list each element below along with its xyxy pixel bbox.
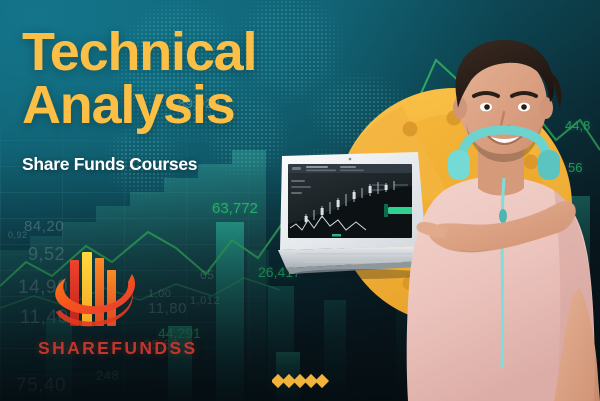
gold-diamond-chain-decoration — [272, 372, 338, 390]
title-line-2: Analysis — [22, 79, 256, 132]
page-title: Technical Analysis — [22, 26, 256, 132]
person-pointing-at-laptop — [404, 38, 600, 401]
headline-block: Technical Analysis Share Funds Courses — [22, 26, 256, 175]
brand-logo[interactable]: SHAREFUNDSS — [38, 248, 158, 359]
subtitle: Share Funds Courses — [22, 154, 256, 175]
title-line-1: Technical — [22, 26, 256, 79]
logo-wordmark: SHAREFUNDSS — [38, 338, 158, 359]
bars-orbit-logo-icon — [44, 248, 148, 336]
promo-banner: 89,92884,209,5214,9011,4075,4011,801,001… — [0, 0, 600, 401]
